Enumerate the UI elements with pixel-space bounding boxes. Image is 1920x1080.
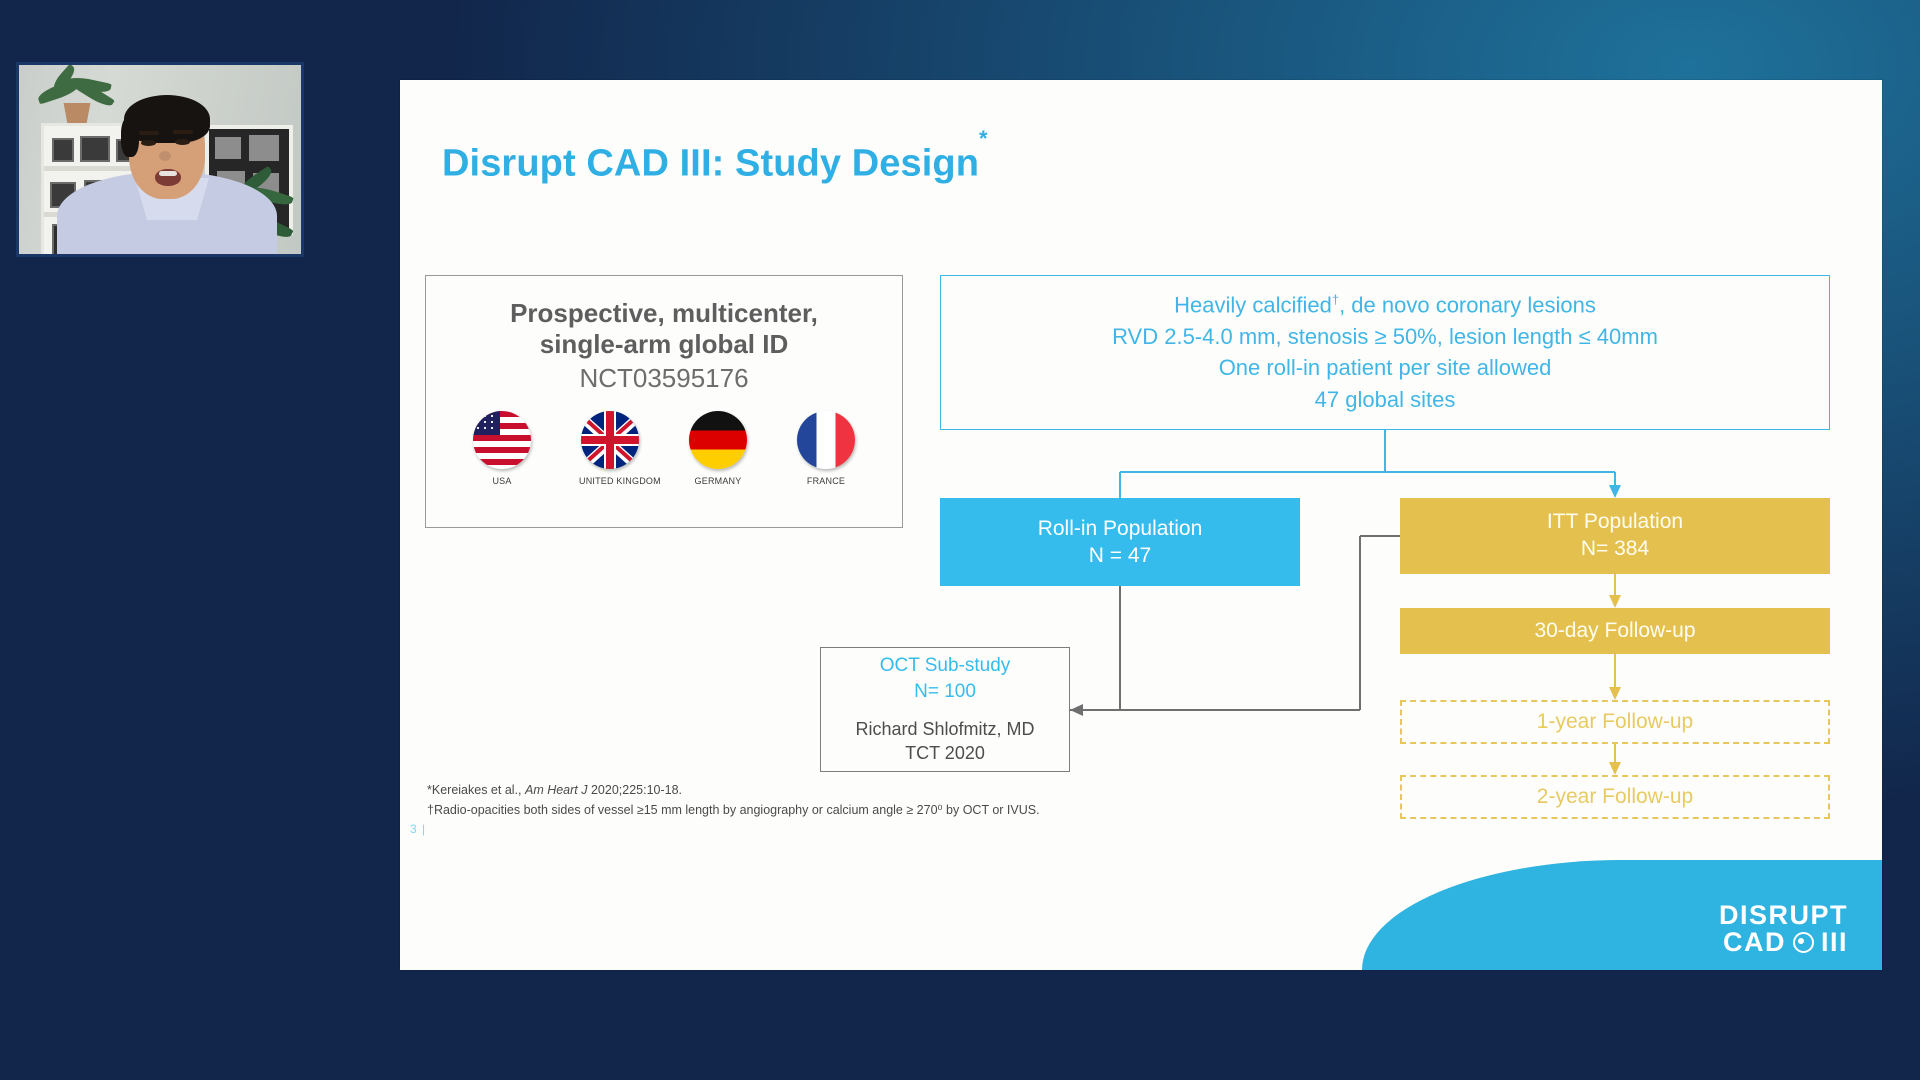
- footnote-1-citation: 2020;225:10-18.: [588, 783, 683, 797]
- criteria-line-3: One roll-in patient per site allowed: [1219, 356, 1552, 381]
- footnotes: *Kereiakes et al., Am Heart J 2020;225:1…: [427, 780, 1040, 820]
- flag-uk-icon: [581, 411, 639, 469]
- followup-2year-box: 2-year Follow-up: [1400, 775, 1830, 819]
- presenter-eyebrow: [139, 131, 159, 135]
- country-flag-item: GERMANY: [687, 411, 749, 486]
- criteria-footnote-marker: †: [1332, 292, 1339, 307]
- presenter-nose: [159, 151, 171, 161]
- rollin-population-title: Roll-in Population: [1038, 515, 1203, 542]
- rollin-population-count: N = 47: [1089, 542, 1151, 569]
- footnote-2-marker: †: [427, 803, 434, 817]
- title-footnote-marker: *: [979, 126, 988, 151]
- footnote-1: *Kereiakes et al., Am Heart J 2020;225:1…: [427, 780, 1040, 800]
- logo-three-text: III: [1821, 929, 1848, 956]
- country-label: USA: [471, 476, 533, 486]
- slide-page-number: 3 |: [410, 822, 426, 836]
- presentation-slide[interactable]: Disrupt CAD III: Study Design* Prospec: [400, 80, 1882, 970]
- itt-population-box: ITT Population N= 384: [1400, 498, 1830, 574]
- oct-substudy-author: Richard Shlofmitz, MD: [855, 718, 1034, 742]
- presenter-webcam-tile[interactable]: [16, 62, 304, 257]
- presenter-mouth: [155, 169, 181, 186]
- criteria-line-4: 47 global sites: [1315, 388, 1456, 413]
- page-number-value: 3: [410, 822, 418, 836]
- presenter-hair: [124, 95, 210, 143]
- country-label: GERMANY: [687, 476, 749, 486]
- flag-germany-icon: [689, 411, 747, 469]
- rollin-population-box: Roll-in Population N = 47: [940, 498, 1300, 586]
- footnote-1-journal: Am Heart J: [525, 783, 588, 797]
- presenter-eye: [175, 139, 190, 145]
- oct-substudy-title: OCT Sub-study: [880, 653, 1011, 679]
- logo-dot-icon: [1793, 932, 1814, 953]
- country-flags-row: USA UNITED KINGDOM GERMANY FRANCE: [426, 411, 902, 486]
- criteria-line-2: RVD 2.5-4.0 mm, stenosis ≥ 50%, lesion l…: [1112, 325, 1658, 350]
- footnote-2: †Radio-opacities both sides of vessel ≥1…: [427, 800, 1040, 820]
- page-number-separator: |: [422, 822, 426, 836]
- country-flag-item: USA: [471, 411, 533, 486]
- flag-usa-icon: [473, 411, 531, 469]
- oct-substudy-count: N= 100: [914, 679, 976, 705]
- inclusion-criteria-box: Heavily calcified†, de novo coronary les…: [940, 275, 1830, 430]
- flag-france-icon: [797, 411, 855, 469]
- criteria-line-1: Heavily calcified†, de novo coronary les…: [1174, 293, 1596, 318]
- footnote-1-authors: Kereiakes et al.,: [432, 783, 525, 797]
- itt-population-count: N= 384: [1581, 536, 1649, 563]
- country-label: FRANCE: [795, 476, 857, 486]
- study-identity-box: Prospective, multicenter, single-arm glo…: [425, 275, 903, 528]
- logo-line-disrupt: DISRUPT: [1719, 902, 1848, 929]
- page-title: Disrupt CAD III: Study Design*: [442, 142, 988, 186]
- oct-substudy-venue: TCT 2020: [905, 742, 985, 766]
- country-flag-item: FRANCE: [795, 411, 857, 486]
- logo-line-cad: CAD III: [1719, 929, 1848, 956]
- criteria-line-1-post: , de novo coronary lesions: [1339, 292, 1596, 317]
- study-design-line-1: Prospective, multicenter,: [426, 298, 902, 329]
- study-design-line-2: single-arm global ID: [426, 329, 902, 360]
- itt-population-title: ITT Population: [1547, 509, 1683, 536]
- criteria-line-1-pre: Heavily calcified: [1174, 292, 1332, 317]
- logo-cad-text: CAD: [1723, 929, 1786, 956]
- followup-30day-box: 30-day Follow-up: [1400, 608, 1830, 654]
- page-title-text: Disrupt CAD III: Study Design: [442, 143, 979, 185]
- followup-1year-box: 1-year Follow-up: [1400, 700, 1830, 744]
- disrupt-cad-logo: DISRUPT CAD III: [1719, 902, 1848, 956]
- webcam-video-frame: [19, 65, 301, 254]
- country-label: UNITED KINGDOM: [579, 476, 641, 486]
- country-flag-item: UNITED KINGDOM: [579, 411, 641, 486]
- footnote-2-text: Radio-opacities both sides of vessel ≥15…: [434, 803, 1040, 817]
- nct-number: NCT03595176: [426, 363, 902, 394]
- oct-substudy-box: OCT Sub-study N= 100 Richard Shlofmitz, …: [820, 647, 1070, 772]
- presenter-eye: [141, 140, 156, 146]
- presenter-eyebrow: [173, 130, 193, 134]
